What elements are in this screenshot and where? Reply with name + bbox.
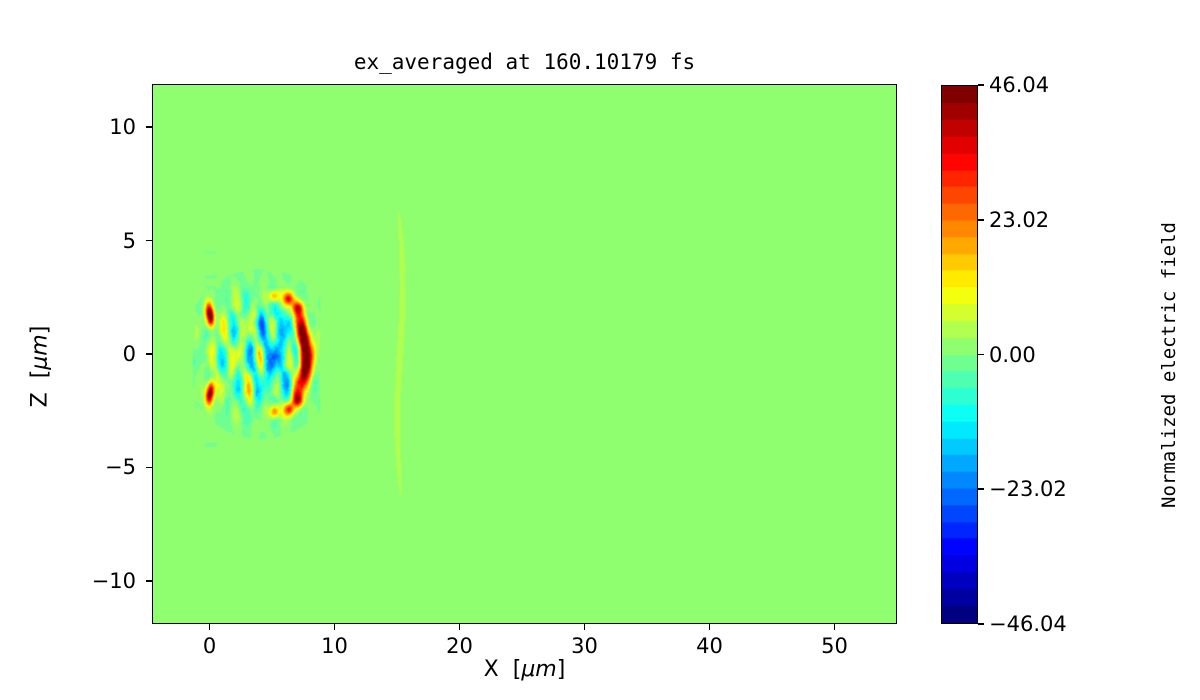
colorbar-canvas xyxy=(942,86,977,623)
x-tick-label: 20 xyxy=(446,634,473,658)
y-tick-label: 10 xyxy=(42,115,136,139)
y-tick-mark xyxy=(146,467,152,469)
x-tick-mark xyxy=(584,624,586,630)
y-tick-mark xyxy=(146,580,152,582)
page-title: ex_averaged at 160.10179 fs xyxy=(152,50,897,74)
colorbar-tick-label: 46.04 xyxy=(989,73,1049,97)
x-tick-label: 0 xyxy=(203,634,216,658)
x-tick-label: 50 xyxy=(821,634,848,658)
x-tick-mark xyxy=(834,624,836,630)
colorbar-tick-label: −46.04 xyxy=(989,612,1067,636)
heatmap-axes xyxy=(152,84,897,624)
x-axis-label: X [μm] xyxy=(152,657,897,682)
x-axis-label-symbol: X xyxy=(484,657,499,682)
y-axis-label-symbol: Z xyxy=(28,392,53,407)
colorbar-tick-mark xyxy=(978,84,984,86)
x-tick-mark xyxy=(209,624,211,630)
x-tick-label: 40 xyxy=(696,634,723,658)
colorbar-axis-label: Normalized electric field xyxy=(1158,155,1180,575)
x-tick-label: 30 xyxy=(571,634,598,658)
y-tick-label: 0 xyxy=(42,342,136,366)
y-tick-mark xyxy=(146,353,152,355)
colorbar-gradient xyxy=(941,85,978,624)
x-tick-mark xyxy=(709,624,711,630)
colorbar-tick-label: −23.02 xyxy=(989,477,1067,501)
colorbar-tick-label: 23.02 xyxy=(989,208,1049,232)
y-tick-mark xyxy=(146,126,152,128)
y-axis-label-unit: [μm] xyxy=(28,326,53,386)
y-axis-label: Z [μm] xyxy=(28,267,53,467)
x-tick-mark xyxy=(459,624,461,630)
colorbar-tick-mark xyxy=(978,623,984,625)
x-tick-label: 10 xyxy=(321,634,348,658)
colorbar-tick-mark xyxy=(978,488,984,490)
y-tick-label: −10 xyxy=(42,569,136,593)
field-heatmap-image xyxy=(153,85,896,623)
y-tick-mark xyxy=(146,240,152,242)
x-tick-mark xyxy=(334,624,336,630)
colorbar-tick-label: 0.00 xyxy=(989,343,1036,367)
colorbar xyxy=(941,85,978,624)
colorbar-tick-mark xyxy=(978,354,984,356)
colorbar-tick-mark xyxy=(978,219,984,221)
matplotlib-figure: ex_averaged at 160.10179 fs 01020304050 … xyxy=(0,0,1200,700)
y-tick-label: 5 xyxy=(42,229,136,253)
y-tick-label: −5 xyxy=(42,455,136,479)
x-axis-label-unit: [μm] xyxy=(506,657,566,682)
